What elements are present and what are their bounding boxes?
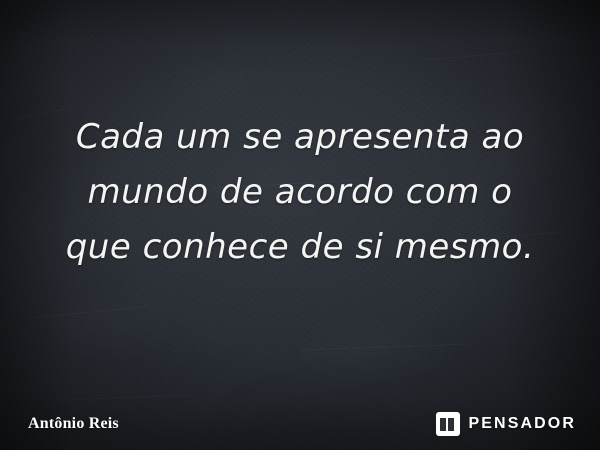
quote-text: Cada um se apresenta ao mundo de acordo …	[50, 110, 550, 275]
quote-mark-icon	[436, 412, 460, 436]
card-footer: Antônio Reis PENSADOR	[0, 398, 600, 450]
pensador-brand[interactable]: PENSADOR	[436, 412, 576, 436]
quote-body: Cada um se apresenta ao mundo de acordo …	[0, 92, 600, 292]
brand-name: PENSADOR	[469, 415, 576, 433]
author-name: Antônio Reis	[28, 415, 119, 433]
quote-card: Cada um se apresenta ao mundo de acordo …	[0, 0, 600, 450]
